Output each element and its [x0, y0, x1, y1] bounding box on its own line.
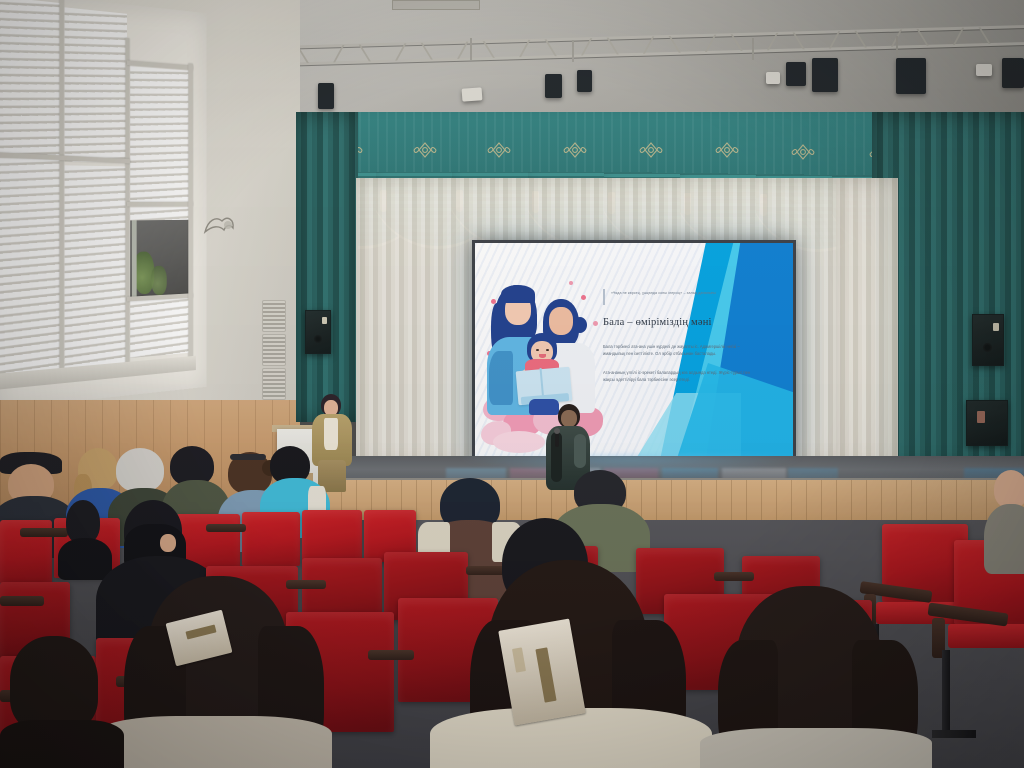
attendee-right-edge	[986, 470, 1024, 590]
stage-light-icon	[976, 64, 992, 76]
wall-vent	[262, 300, 286, 332]
valance-ornament	[484, 140, 514, 160]
stage-curtain-left	[296, 112, 358, 422]
slide-title: Бала – өміріміздің мәні	[603, 317, 763, 328]
auditorium-photo: «Ұяда не көрсең, ұшқанда соны ілерсің» –…	[0, 0, 1024, 768]
flower-icon	[593, 321, 598, 326]
loudspeaker-right	[972, 314, 1004, 366]
valance-ornament	[788, 142, 818, 162]
stage-light-icon	[896, 58, 926, 94]
slide-quote: «Ұяда не көрсең, ұшқанда соны ілерсің» –…	[611, 291, 757, 296]
window	[0, 0, 250, 414]
valance-ornament	[410, 140, 440, 160]
valance-ornament	[560, 140, 590, 160]
flower-icon	[581, 295, 586, 300]
loudspeaker-right-lower	[966, 400, 1008, 446]
window-open-pane	[130, 220, 191, 301]
stage-light-icon	[545, 74, 562, 98]
seat-armrest	[20, 528, 68, 537]
valance-ornament	[636, 140, 666, 160]
truss-hanger	[470, 38, 472, 60]
stage-light-icon	[766, 72, 780, 84]
seat-back[interactable]	[242, 512, 300, 566]
sheer-backdrop-right	[836, 178, 898, 468]
wall-vent	[262, 334, 286, 366]
ceiling-vent	[392, 0, 480, 10]
seat-armrest	[368, 650, 414, 660]
slide-body-paragraph-1: Бала тәрбиесі ата-ана үшін күрделі де жа…	[603, 343, 753, 357]
stage-light-icon	[318, 83, 334, 109]
seat-armrest	[0, 596, 44, 606]
stage-light-icon	[1002, 58, 1024, 88]
projection-screen: «Ұяда не көрсең, ұшқанда соны ілерсің» –…	[472, 240, 796, 468]
stage-light-icon	[786, 62, 806, 86]
seat-armrest	[714, 572, 754, 581]
sunglasses-on-head	[230, 454, 266, 460]
truss-hanger	[896, 36, 898, 58]
wall-sconce-icon	[202, 212, 236, 238]
attendee-right-foreground	[700, 586, 930, 768]
wall-vent	[262, 368, 286, 400]
valance-ornament	[712, 140, 742, 160]
stage-light-icon	[577, 70, 592, 92]
attendee-far-left-foreground	[0, 636, 120, 768]
slide-body-paragraph-2: Ата-ананың үлгілі іс-әрекеті балалардың …	[603, 369, 753, 383]
flower-icon	[569, 281, 573, 285]
loudspeaker-left	[305, 310, 331, 354]
truss-hanger	[572, 40, 574, 62]
stage-light-icon	[462, 87, 483, 101]
slide-quote-rule	[603, 289, 605, 305]
stage-light-icon	[812, 58, 838, 92]
attendee-left-foreground	[96, 576, 326, 768]
truss-hanger	[752, 38, 754, 60]
slide: «Ұяда не көрсең, ұшқанда соны ілерсің» –…	[475, 243, 793, 465]
seat-back[interactable]	[302, 510, 362, 562]
microphone-icon	[555, 432, 559, 447]
